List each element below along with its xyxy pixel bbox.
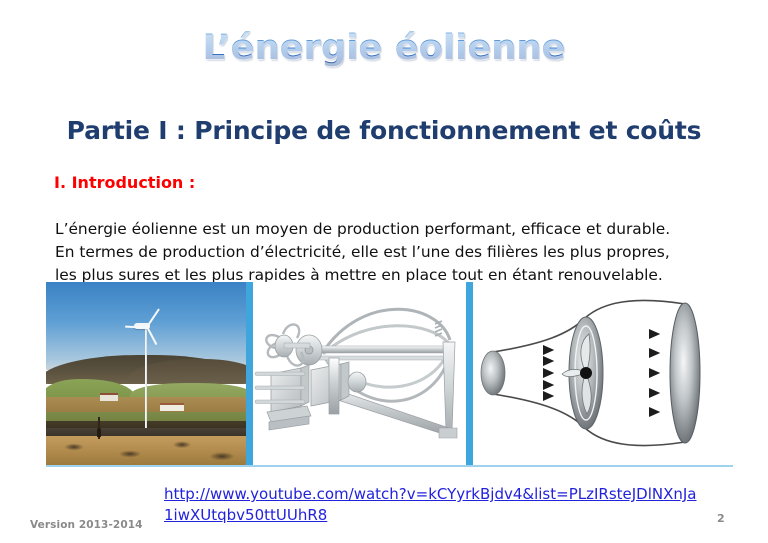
- image-strip: [46, 282, 733, 467]
- page-title: L’énergie éolienne: [0, 28, 768, 68]
- slide-canvas: L’énergie éolienne Partie I : Principe d…: [0, 0, 768, 543]
- body-paragraph: L’énergie éolienne est un moyen de produ…: [55, 218, 683, 286]
- youtube-link-line-2: 1iwXUtqbv50ttUUhR8: [164, 506, 327, 524]
- divider-bar-1: [246, 282, 253, 465]
- footer-version-label: Version 2013-2014: [30, 519, 143, 531]
- video-link-block[interactable]: http://www.youtube.com/watch?v=kCYyrkBjd…: [164, 484, 724, 527]
- betz-stream-tube-illustration: [473, 282, 718, 465]
- render-wind-turbine-test-rig: [253, 282, 466, 465]
- footer-page-number: 2: [717, 512, 725, 525]
- slide-subtitle: Partie I : Principe de fonctionnement et…: [0, 116, 768, 145]
- section-heading-introduction: I. Introduction :: [54, 173, 195, 192]
- diagram-betz-stream-tube: [473, 282, 718, 465]
- farmhouse-lower: [160, 403, 184, 411]
- youtube-link[interactable]: http://www.youtube.com/watch?v=kCYyrkBjd…: [164, 485, 697, 524]
- turbine-rig-illustration: [253, 282, 466, 465]
- person-silhouette: [97, 428, 101, 437]
- youtube-link-line-1: http://www.youtube.com/watch?v=kCYyrkBjd…: [164, 485, 697, 503]
- photo-wind-turbine-countryside: [46, 282, 246, 465]
- farmhouse-upper: [100, 393, 118, 401]
- turbine-mast: [145, 326, 147, 428]
- ploughed-soil: [46, 436, 246, 465]
- divider-bar-2: [466, 282, 473, 465]
